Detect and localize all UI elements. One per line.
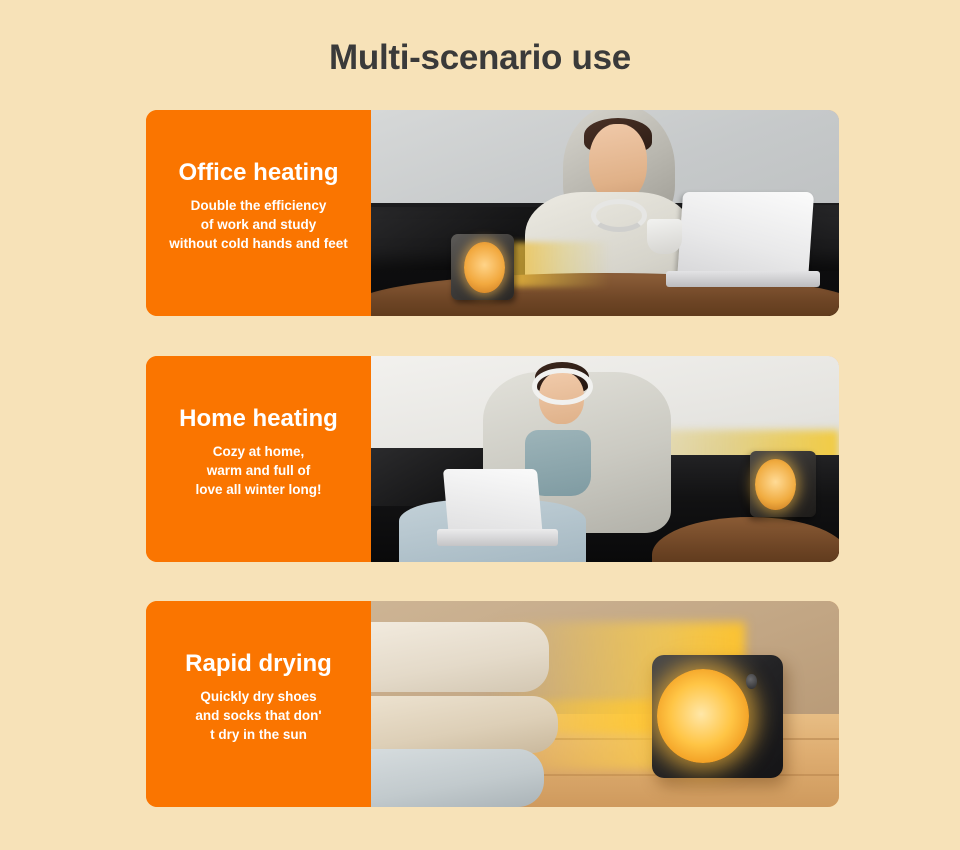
photo-towel-stack-bottom xyxy=(371,749,544,807)
photo-person-face xyxy=(589,124,648,202)
photo-towel-stack-top xyxy=(371,622,549,692)
photo-cup xyxy=(647,219,682,254)
card-photo-office-heating xyxy=(371,110,839,316)
card-description: Quickly dry shoes and socks that don' t … xyxy=(195,687,321,744)
scenario-card-office-heating: Office heating Double the efficiency of … xyxy=(146,110,839,316)
card-photo-rapid-drying xyxy=(371,601,839,807)
photo-laptop-base xyxy=(666,271,820,287)
photo-heat-beam xyxy=(507,242,610,287)
photo-heater-device xyxy=(451,234,514,300)
scenario-card-rapid-drying: Rapid drying Quickly dry shoes and socks… xyxy=(146,601,839,807)
photo-laptop-base xyxy=(437,529,559,545)
photo-heater-grille xyxy=(755,459,796,510)
scenario-card-home-heating: Home heating Cozy at home, warm and full… xyxy=(146,356,839,562)
card-heading: Home heating xyxy=(179,405,338,433)
photo-towel-stack-middle xyxy=(371,696,558,754)
card-heading: Office heating xyxy=(178,159,338,187)
card-heading: Rapid drying xyxy=(185,650,332,678)
photo-heater-device xyxy=(750,451,816,517)
photo-heater-knob xyxy=(746,674,756,689)
photo-headphones xyxy=(591,199,647,232)
page-title: Multi-scenario use xyxy=(0,38,960,78)
card-text-panel: Home heating Cozy at home, warm and full… xyxy=(146,356,371,562)
card-description: Cozy at home, warm and full of love all … xyxy=(195,442,321,499)
card-text-panel: Rapid drying Quickly dry shoes and socks… xyxy=(146,601,371,807)
card-description: Double the efficiency of work and study … xyxy=(169,196,348,253)
card-photo-home-heating xyxy=(371,356,839,562)
photo-heater-grille xyxy=(464,242,504,293)
promo-page: Multi-scenario use Office heating Double… xyxy=(0,0,960,850)
photo-heater-device xyxy=(652,655,783,779)
card-text-panel: Office heating Double the efficiency of … xyxy=(146,110,371,316)
photo-laptop-screen xyxy=(677,192,814,283)
photo-heater-grille xyxy=(657,669,749,763)
